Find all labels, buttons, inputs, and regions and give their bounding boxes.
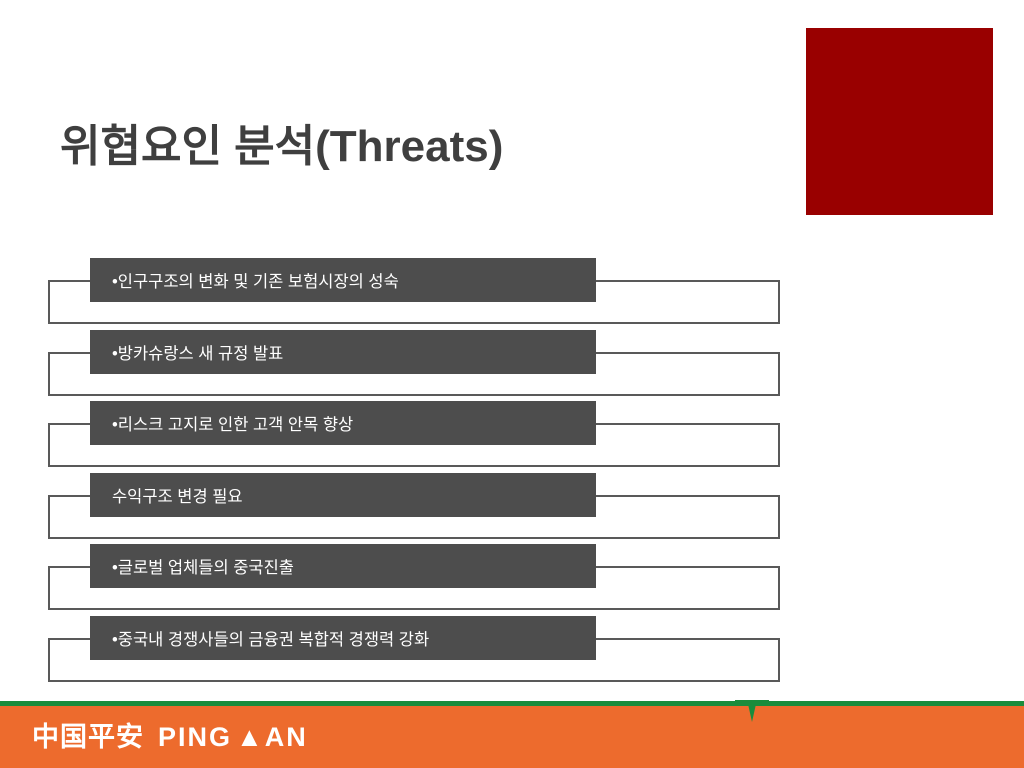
brand-logo-dot-icon: ▲ — [236, 722, 265, 752]
list-item-bar[interactable]: •방카슈랑스 새 규정 발표 — [90, 330, 596, 374]
list-item-bar[interactable]: •인구구조의 변화 및 기존 보험시장의 성숙 — [90, 258, 596, 302]
list-item-label: 수익구조 변경 필요 — [90, 483, 243, 507]
list-item-label: •리스크 고지로 인한 고객 안목 향상 — [90, 411, 353, 435]
threat-list: •인구구조의 변화 및 기존 보험시장의 성숙 •방카슈랑스 새 규정 발표 •… — [0, 258, 1024, 687]
brand-logo-cn: 中国平安 — [32, 722, 144, 753]
list-item[interactable]: •인구구조의 변화 및 기존 보험시장의 성숙 — [0, 258, 1024, 330]
list-item[interactable]: •리스크 고지로 인한 고객 안목 향상 — [0, 401, 1024, 473]
list-item-bar[interactable]: •리스크 고지로 인한 고객 안목 향상 — [90, 401, 596, 445]
decorative-red-block — [806, 28, 993, 215]
list-item[interactable]: •방카슈랑스 새 규정 발표 — [0, 330, 1024, 402]
list-item[interactable]: 수익구조 변경 필요 — [0, 473, 1024, 545]
slide-canvas: 위협요인 분석(Threats) •인구구조의 변화 및 기존 보험시장의 성숙… — [0, 0, 1024, 768]
list-item[interactable]: •글로벌 업체들의 중국진출 — [0, 544, 1024, 616]
list-item-bar[interactable]: •중국내 경쟁사들의 금융권 복합적 경쟁력 강화 — [90, 616, 596, 660]
list-item[interactable]: •중국내 경쟁사들의 금융권 복합적 경쟁력 강화 — [0, 616, 1024, 688]
list-item-bar[interactable]: •글로벌 업체들의 중국진출 — [90, 544, 596, 588]
chevron-down-icon — [735, 700, 769, 726]
list-item-bar[interactable]: 수익구조 변경 필요 — [90, 473, 596, 517]
list-item-label: •글로벌 업체들의 중국진출 — [90, 554, 294, 578]
list-item-label: •인구구조의 변화 및 기존 보험시장의 성숙 — [90, 268, 399, 292]
page-title: 위협요인 분석(Threats) — [60, 110, 503, 174]
list-item-label: •중국내 경쟁사들의 금융권 복합적 경쟁력 강화 — [90, 626, 429, 650]
brand-logo: 中国平安PING▲AN — [32, 715, 308, 754]
brand-logo-en: PING — [158, 722, 232, 752]
brand-logo-en-tail: AN — [265, 722, 308, 752]
list-item-label: •방카슈랑스 새 규정 발표 — [90, 340, 283, 364]
